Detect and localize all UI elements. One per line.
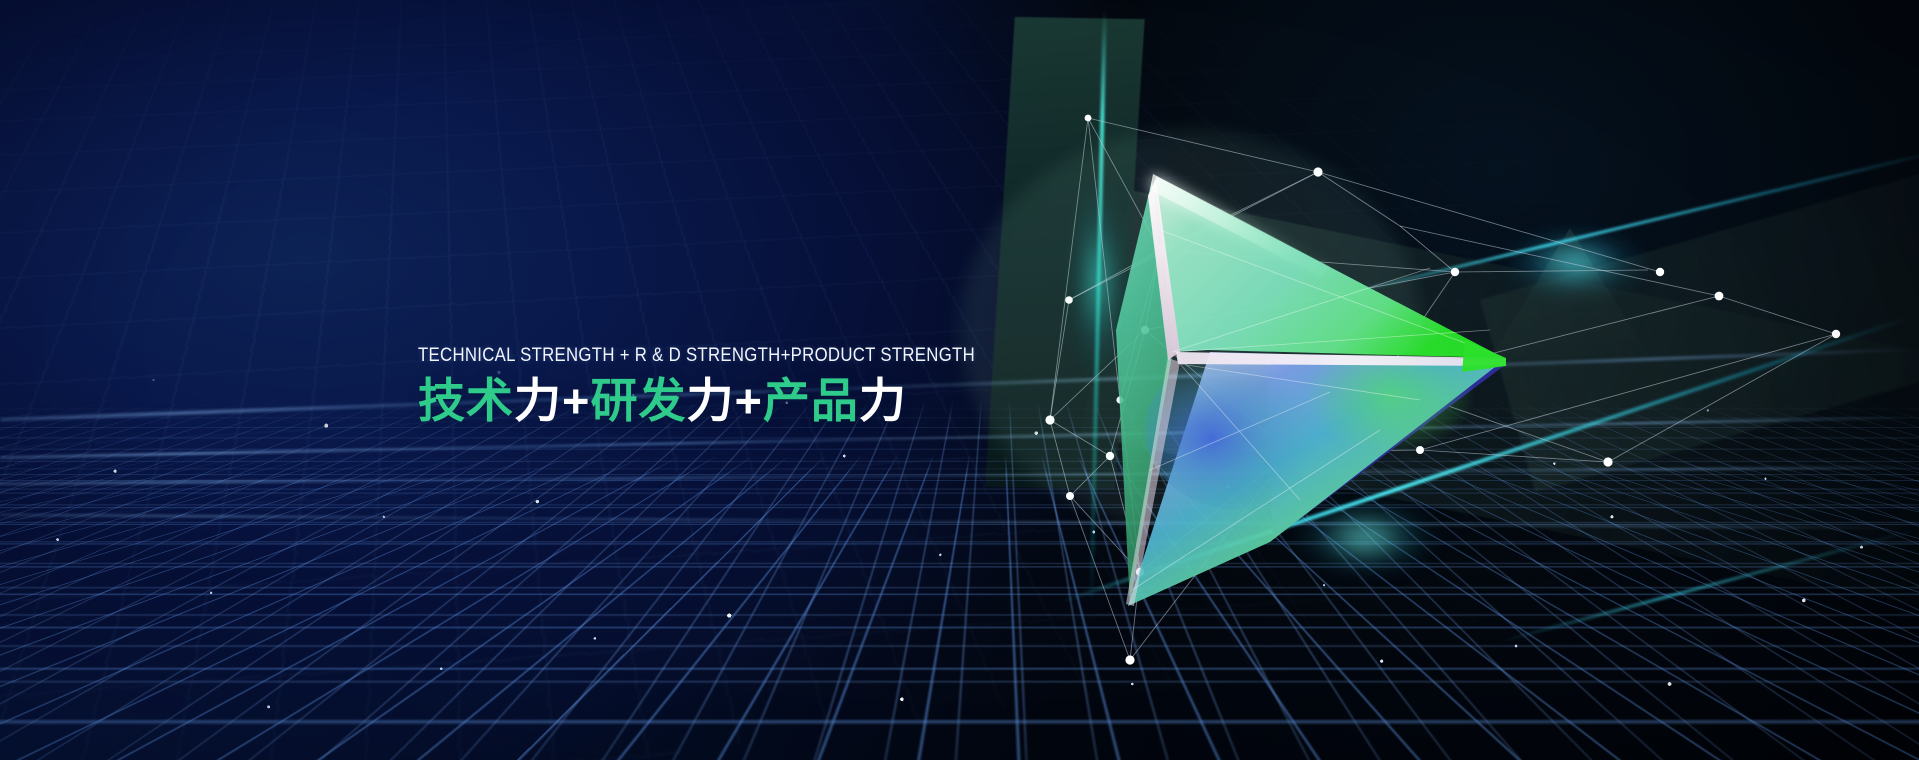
headline-cn-seg-6: 力 [859, 374, 907, 427]
headline-cn-seg-2: 力+ [514, 374, 590, 427]
headline-english: TECHNICAL STRENGTH + R & D STRENGTH+PROD… [418, 345, 900, 366]
headline-cn-seg-1: 技术 [418, 374, 514, 427]
headline-chinese: 技术力+研发力+产品力 [418, 375, 978, 428]
headline-cn-seg-3: 研发 [590, 374, 686, 427]
hero-banner: TECHNICAL STRENGTH + R & D STRENGTH+PROD… [0, 0, 1919, 760]
headline-cn-seg-5: 产品 [763, 374, 859, 427]
headline-cn-seg-4: 力+ [686, 374, 762, 427]
headline-block: TECHNICAL STRENGTH + R & D STRENGTH+PROD… [418, 345, 978, 428]
